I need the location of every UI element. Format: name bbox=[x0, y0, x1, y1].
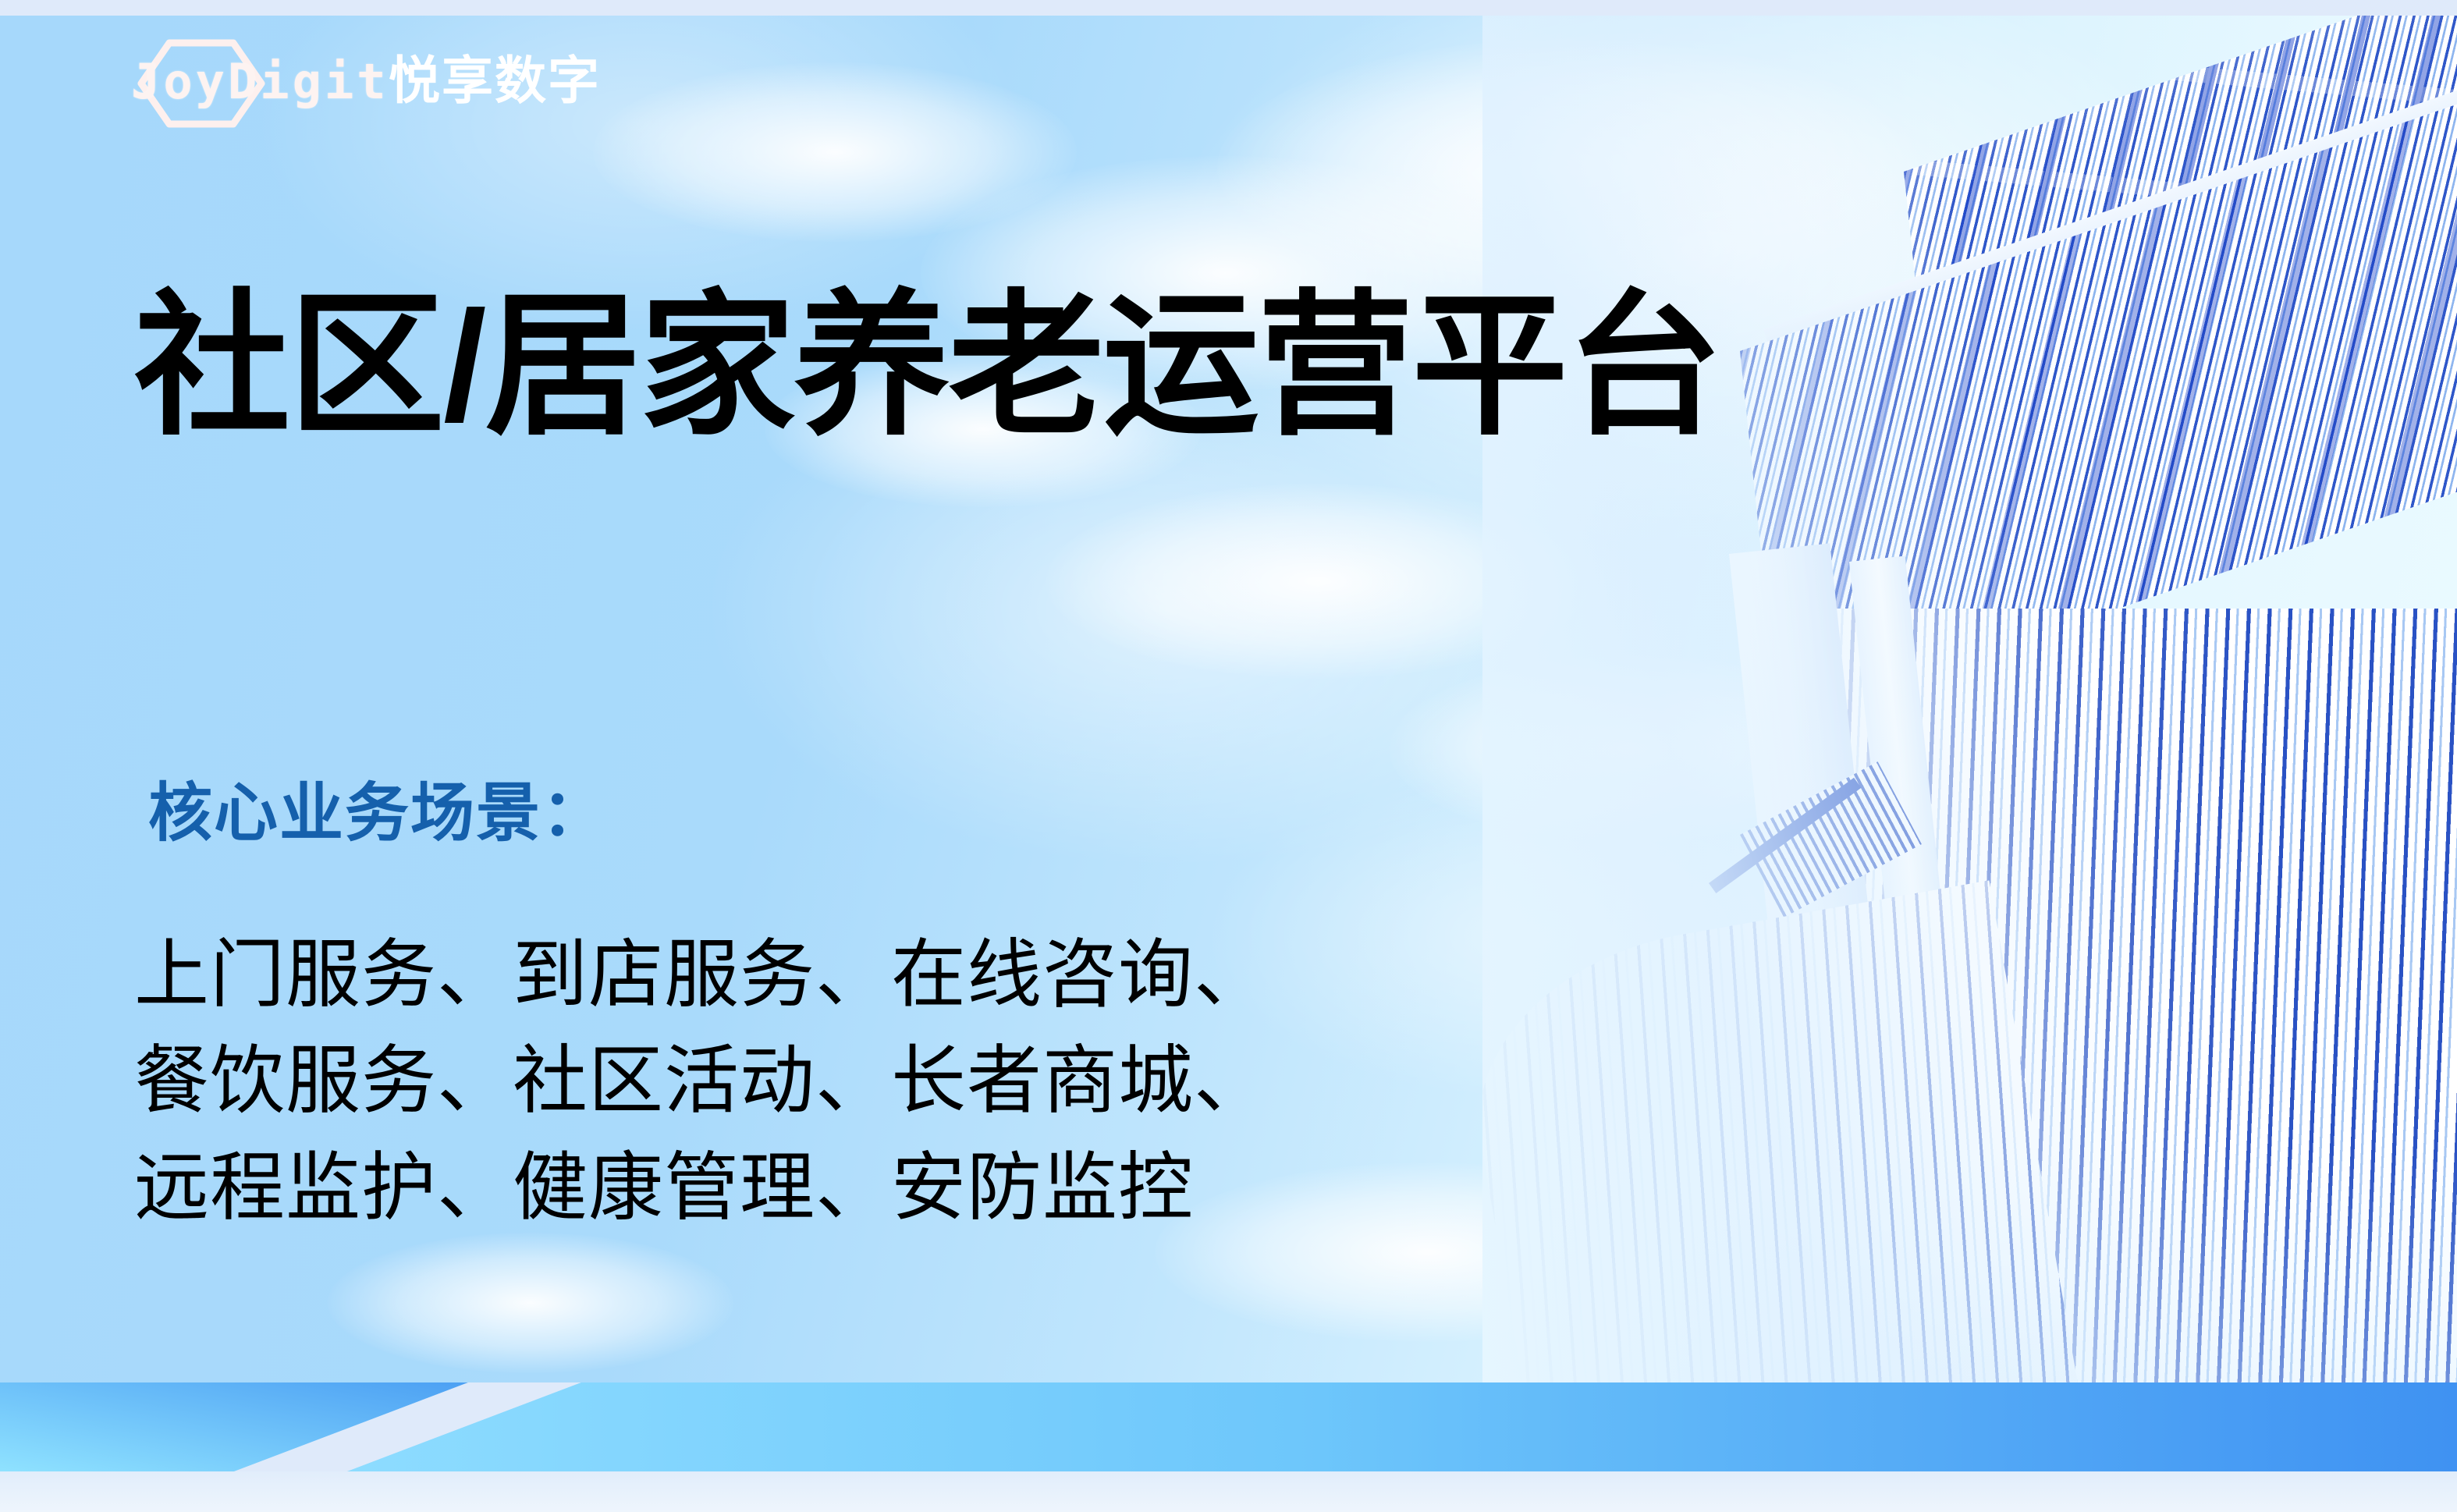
scenario-list: 上门服务、到店服务、在线咨询、 餐饮服务、社区活动、长者商城、 远程监护、健康管… bbox=[134, 922, 1507, 1241]
footer-decoration-band bbox=[0, 1382, 2457, 1471]
cloud-shape bbox=[1046, 484, 1592, 679]
brand-logo[interactable]: JoyDigit 悦享数字 bbox=[131, 41, 677, 126]
page-title: 社区/居家养老运营平台 bbox=[134, 287, 1721, 446]
sky-background bbox=[0, 16, 2457, 1471]
logo-wordmark-latin: JoyDigit bbox=[131, 58, 389, 106]
cloud-shape bbox=[1217, 39, 1919, 296]
scenario-line: 远程监护、健康管理、安防监控 bbox=[134, 1135, 1507, 1241]
section-label: 核心业务场景： bbox=[148, 782, 607, 846]
cloud-shape bbox=[328, 1233, 733, 1373]
bottom-margin-strip bbox=[0, 1471, 2457, 1512]
logo-wordmark-chinese: 悦享数字 bbox=[389, 55, 601, 106]
slide-canvas: JoyDigit 悦享数字 社区/居家养老运营平台 核心业务场景： 上门服务、到… bbox=[0, 0, 2457, 1512]
cloud-shape bbox=[1389, 655, 1873, 843]
scenario-line: 餐饮服务、社区活动、长者商城、 bbox=[134, 1028, 1507, 1134]
cloud-shape bbox=[1607, 921, 2013, 1084]
top-margin-strip bbox=[0, 0, 2457, 16]
scenario-line: 上门服务、到店服务、在线咨询、 bbox=[134, 922, 1507, 1028]
